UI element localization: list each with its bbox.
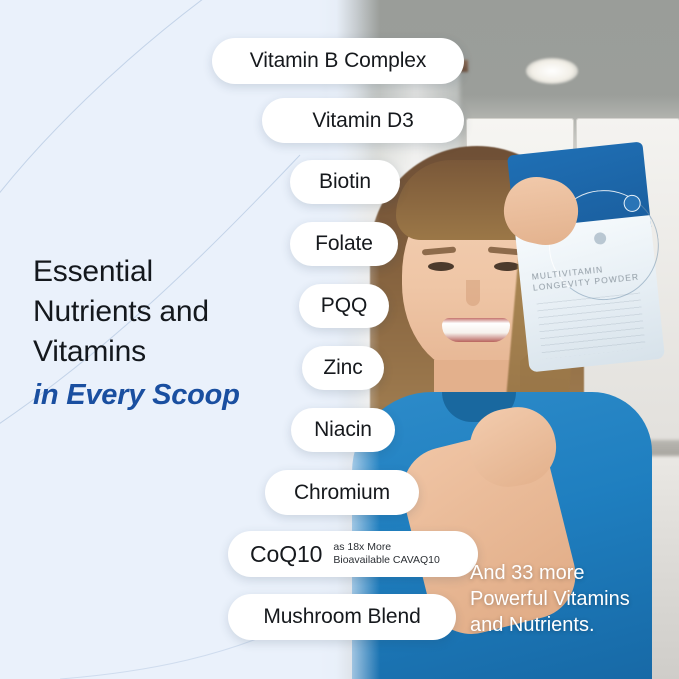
ingredient-label: Vitamin B Complex [250,49,426,73]
ingredient-label: PQQ [321,294,367,318]
nose [466,280,480,306]
ingredient-label: CoQ10 [250,541,322,568]
smile [442,318,510,342]
ingredient-pill-biotin: Biotin [290,160,400,204]
ingredient-pill-niacin: Niacin [291,408,395,452]
ingredient-pill-vitamin-d3: Vitamin D3 [262,98,464,143]
ingredient-pill-zinc: Zinc [302,346,384,390]
ingredient-pill-folate: Folate [290,222,398,266]
headline-accent: in Every Scoop [33,374,283,416]
promo-image: folqs MULTIVITAMIN LONGEVITY POWDER Esse… [0,0,679,679]
ingredient-sublabel-line1: as 18x More [333,541,439,554]
headline-block: Essential Nutrients and Vitamins in Ever… [33,252,283,416]
eye-left [428,262,454,271]
headline-line-2: Nutrients and [33,292,283,332]
ingredient-pill-mushroom-blend: Mushroom Blend [228,594,456,640]
ingredient-pill-coq10: CoQ10 as 18x More Bioavailable CAVAQ10 [228,531,478,577]
ingredient-label: Mushroom Blend [263,605,420,629]
ingredient-sublabel-line2: Bioavailable CAVAQ10 [333,554,439,567]
ingredient-label: Folate [315,232,373,256]
ceiling-light [526,58,578,84]
bottom-copy-line-2: Powerful Vitamins [470,586,670,612]
headline-line-1: Essential [33,252,283,292]
ingredient-pill-chromium: Chromium [265,470,419,515]
pouch-texture [537,293,646,360]
bottom-copy-line-3: and Nutrients. [470,612,670,638]
ingredient-label: Chromium [294,481,390,505]
ingredient-label: Zinc [323,356,362,380]
ingredient-label: Biotin [319,170,371,194]
bottom-copy-block: And 33 more Powerful Vitamins and Nutrie… [470,560,670,638]
ingredient-label: Vitamin D3 [312,109,413,133]
ingredient-pill-vitamin-b-complex: Vitamin B Complex [212,38,464,84]
bottom-copy-line-1: And 33 more [470,560,670,586]
ingredient-label: Niacin [314,418,372,442]
eye-right [494,262,520,271]
headline-line-3: Vitamins [33,332,283,372]
ingredient-sublabel: as 18x More Bioavailable CAVAQ10 [333,541,439,567]
ingredient-pill-pqq: PQQ [299,284,389,328]
